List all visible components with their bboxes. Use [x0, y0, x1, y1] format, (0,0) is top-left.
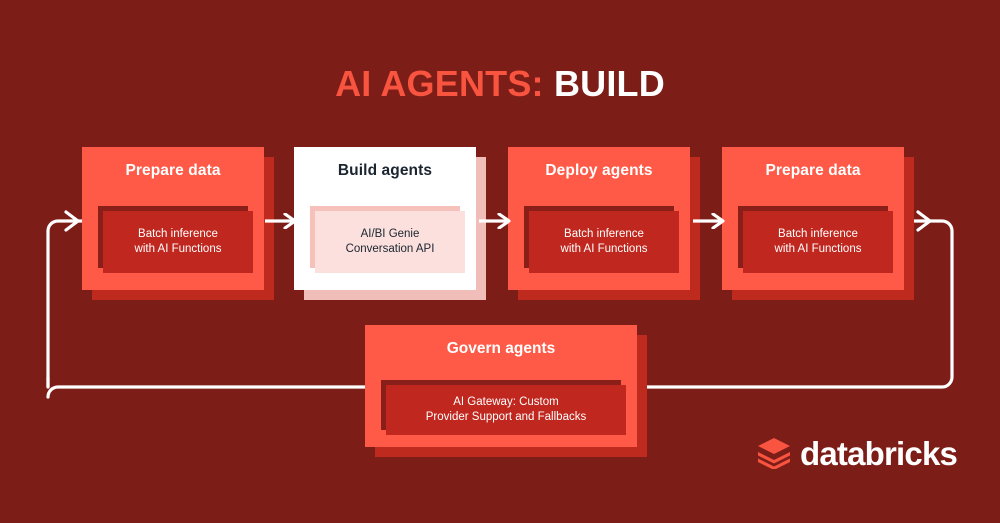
card-body: Govern agents AI Gateway: Custom Provide…: [365, 325, 637, 447]
step-card-prepare-data-2[interactable]: Prepare data Batch inference with AI Fun…: [722, 147, 904, 290]
chip-text: Batch inference with AI Functions: [129, 227, 228, 257]
chip-line-2: with AI Functions: [775, 243, 862, 255]
step-card-deploy-agents[interactable]: Deploy agents Batch inference with AI Fu…: [508, 147, 690, 290]
page-title: AI AGENTS: BUILD: [0, 62, 1000, 106]
chip-text: Batch inference with AI Functions: [769, 227, 868, 257]
chip-text: AI/BI Genie Conversation API: [340, 227, 441, 257]
card-body: Prepare data Batch inference with AI Fun…: [722, 147, 904, 290]
arrow-right-icon: [265, 213, 297, 229]
step-chip: Batch inference with AI Functions: [738, 206, 888, 268]
card-body: Deploy agents Batch inference with AI Fu…: [508, 147, 690, 290]
chip-body: AI Gateway: Custom Provider Support and …: [386, 385, 626, 435]
step-title: Prepare data: [82, 161, 264, 181]
step-chip: Batch inference with AI Functions: [98, 206, 248, 268]
databricks-wordmark: databricks: [800, 437, 957, 470]
arrow-right-icon: [479, 213, 511, 229]
chip-line-1: AI/BI Genie: [361, 228, 420, 240]
chip-body: Batch inference with AI Functions: [529, 211, 679, 273]
chip-line-1: Batch inference: [564, 228, 644, 240]
chip-line-1: AI Gateway: Custom: [453, 396, 558, 408]
databricks-logo: databricks: [757, 432, 957, 474]
step-title: Deploy agents: [508, 161, 690, 181]
arrow-right-icon: [693, 213, 725, 229]
step-chip: AI Gateway: Custom Provider Support and …: [381, 380, 621, 430]
arrow-right-icon: [66, 212, 78, 230]
chip-body: AI/BI Genie Conversation API: [315, 211, 465, 273]
step-title: Build agents: [294, 161, 476, 181]
step-card-govern-agents[interactable]: Govern agents AI Gateway: Custom Provide…: [365, 325, 637, 447]
title-plain: BUILD: [554, 63, 665, 104]
diagram-canvas: AI AGENTS: BUILD Prepare data Bat: [0, 0, 1000, 523]
chip-body: Batch inference with AI Functions: [743, 211, 893, 273]
chip-text: AI Gateway: Custom Provider Support and …: [420, 395, 592, 425]
chip-line-2: with AI Functions: [135, 243, 222, 255]
step-card-prepare-data-1[interactable]: Prepare data Batch inference with AI Fun…: [82, 147, 264, 290]
chip-line-2: with AI Functions: [561, 243, 648, 255]
chip-text: Batch inference with AI Functions: [555, 227, 654, 257]
step-chip: AI/BI Genie Conversation API: [310, 206, 460, 268]
chip-line-1: Batch inference: [778, 228, 858, 240]
step-chip: Batch inference with AI Functions: [524, 206, 674, 268]
card-body: Prepare data Batch inference with AI Fun…: [82, 147, 264, 290]
chip-line-2: Provider Support and Fallbacks: [426, 411, 586, 423]
title-accent: AI AGENTS:: [335, 63, 544, 104]
step-card-build-agents[interactable]: Build agents AI/BI Genie Conversation AP…: [294, 147, 476, 290]
chip-line-2: Conversation API: [346, 243, 435, 255]
chip-body: Batch inference with AI Functions: [103, 211, 253, 273]
databricks-stacked-layers-icon: [757, 437, 791, 469]
step-title: Govern agents: [365, 339, 637, 359]
card-body: Build agents AI/BI Genie Conversation AP…: [294, 147, 476, 290]
arrow-right-icon: [918, 212, 930, 230]
step-title: Prepare data: [722, 161, 904, 181]
chip-line-1: Batch inference: [138, 228, 218, 240]
